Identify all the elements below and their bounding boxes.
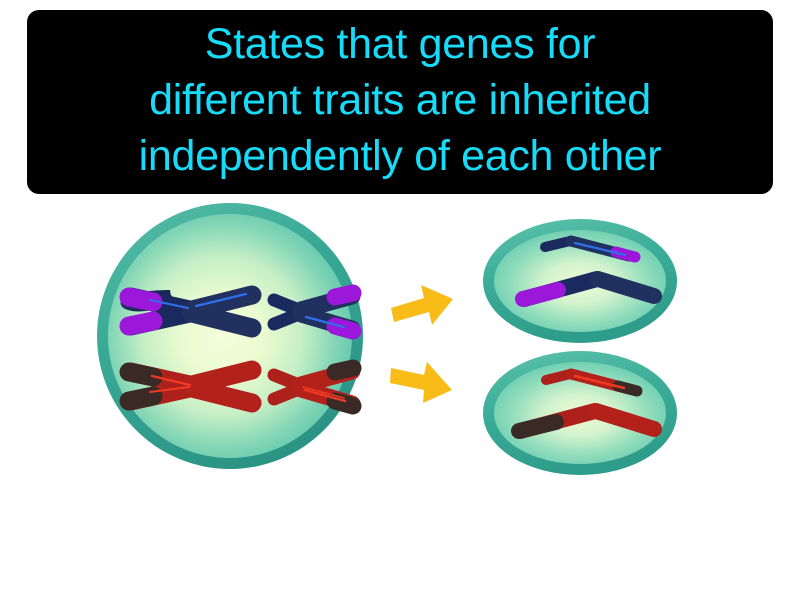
daughter-cell-top [483,219,677,343]
arrow-icon [390,362,452,403]
telomere-purple-upper-right [335,293,353,297]
telomere-purple [523,290,558,299]
arrow-to-bottom-daughter-cell [390,362,452,403]
screenshot-root: States that genes for different traits a… [0,0,800,600]
diagram-svg [0,196,800,600]
arrow-to-top-daughter-cell [391,285,453,325]
arrow-icon [391,285,453,325]
telomere-black [519,422,556,431]
daughter-cell-bottom [483,351,677,475]
independent-assortment-diagram [0,196,800,600]
telomere-black-lower-left [129,396,153,401]
telomere-black-upper-right [335,368,353,372]
telomere-purple-lower-left [129,321,153,326]
definition-banner: States that genes for different traits a… [27,10,773,194]
definition-line-1: States that genes for [205,16,596,72]
parent-cell [97,203,363,469]
definition-line-3: independently of each other [139,128,662,184]
definition-line-2: different traits are inherited [149,72,651,128]
parent-cell-cytoplasm [108,214,352,458]
telomere-black-upper-left [129,372,153,377]
